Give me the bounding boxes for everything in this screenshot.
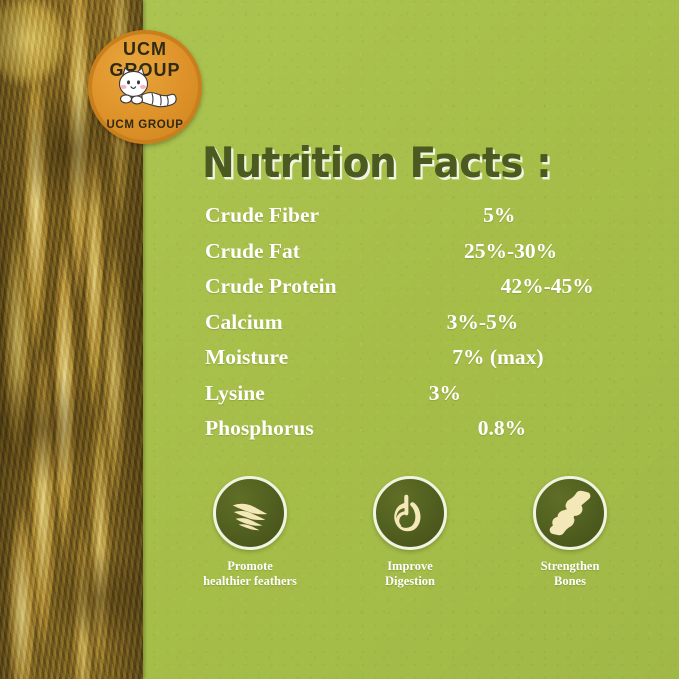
nutrient-value: 0.8% bbox=[478, 416, 526, 441]
nutrient-label: Phosphorus bbox=[205, 416, 314, 441]
nutrient-label: Crude Protein bbox=[205, 274, 337, 299]
benefit-label: Improve Digestion bbox=[385, 559, 435, 589]
nutrient-value: 25%-30% bbox=[464, 239, 557, 264]
benefit-label: Promote healthier feathers bbox=[203, 559, 297, 589]
page-title: Nutrition Facts : bbox=[202, 138, 551, 187]
benefit-item-feathers: Promote healthier feathers bbox=[175, 476, 325, 589]
nutrient-value: 5% bbox=[483, 203, 515, 228]
nutrient-label: Crude Fiber bbox=[205, 203, 319, 228]
table-row: Calcium ................................… bbox=[205, 310, 595, 346]
stomach-icon bbox=[387, 490, 433, 536]
nutrition-facts-list: Crude Fiber .......................... 5… bbox=[205, 203, 595, 452]
table-row: Moisture .............................. … bbox=[205, 345, 595, 381]
nutrient-label: Moisture bbox=[205, 345, 288, 370]
cat-worm-mascot-icon bbox=[112, 65, 178, 113]
benefits-row: Promote healthier feathers Improve Diges… bbox=[175, 476, 645, 589]
table-row: Lysine .................................… bbox=[205, 381, 595, 417]
ucm-group-logo[interactable]: UCM GROUP bbox=[88, 30, 202, 144]
benefit-icon-circle bbox=[533, 476, 607, 550]
bone-joint-icon bbox=[547, 490, 593, 536]
nutrient-label: Lysine bbox=[205, 381, 265, 406]
nutrient-label: Calcium bbox=[205, 310, 283, 335]
nutrient-value: 42%-45% bbox=[501, 274, 594, 299]
benefit-label: Strengthen Bones bbox=[541, 559, 600, 589]
benefit-icon-circle bbox=[373, 476, 447, 550]
table-row: Crude Fat ..............................… bbox=[205, 239, 595, 275]
nutrient-value: 7% (max) bbox=[452, 345, 543, 370]
feather-wing-icon bbox=[227, 490, 273, 536]
nutrient-value: 3% bbox=[429, 381, 461, 406]
table-row: Crude Protein ...................... 42%… bbox=[205, 274, 595, 310]
benefit-icon-circle bbox=[213, 476, 287, 550]
benefit-item-digestion: Improve Digestion bbox=[335, 476, 485, 589]
table-row: Phosphorus ........................ 0.8% bbox=[205, 416, 595, 452]
nutrient-value: 3%-5% bbox=[447, 310, 519, 335]
nutrient-label: Crude Fat bbox=[205, 239, 300, 264]
benefit-item-bones: Strengthen Bones bbox=[495, 476, 645, 589]
product-nutrition-poster: UCM GROUP bbox=[0, 0, 679, 679]
table-row: Crude Fiber .......................... 5… bbox=[205, 203, 595, 239]
logo-arc-bottom-text: UCM GROUP bbox=[92, 119, 198, 131]
